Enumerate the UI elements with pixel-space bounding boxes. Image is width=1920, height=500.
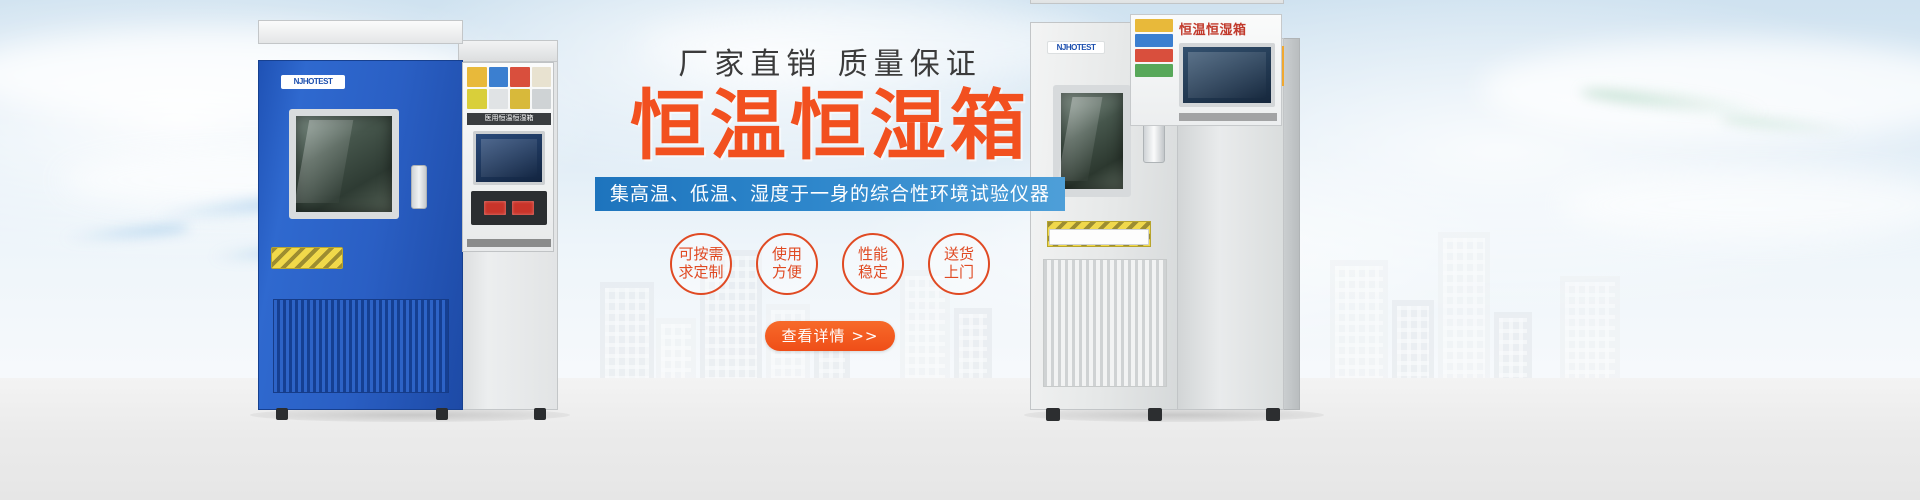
chamber-side-cap: [458, 40, 558, 62]
safety-sticker: [489, 67, 509, 87]
feature-badge-delivery[interactable]: 送货 上门: [928, 233, 990, 295]
chamber-foot: [1046, 408, 1060, 421]
chamber-foot: [534, 408, 546, 420]
badge-line-2: 稳定: [858, 264, 888, 281]
promo-banner: NJHOTEST 医用恒温恒湿箱: [0, 0, 1920, 500]
control-panel-right: 恒温恒湿箱: [1130, 14, 1282, 126]
chamber-top-cap: [1030, 0, 1284, 4]
product-shadow: [250, 408, 570, 422]
subtitle-bar: 集高温、低温、湿度于一身的综合性环境试验仪器: [595, 177, 1065, 211]
feature-badges: 可按需 求定制 使用 方便 性能 稳定 送货 上门: [560, 233, 1100, 295]
controller-screen-right: [1179, 43, 1275, 107]
tagline: 厂家直销 质量保证: [560, 48, 1100, 81]
feature-badge-stable[interactable]: 性能 稳定: [842, 233, 904, 295]
badge-line-1: 可按需: [678, 246, 723, 263]
safety-sticker-group: [1135, 19, 1173, 77]
badge-line-2: 求定制: [678, 264, 723, 281]
headline: 恒温恒湿箱: [560, 87, 1100, 165]
badge-line-2: 方便: [772, 264, 802, 281]
chamber-top-cap: [258, 20, 463, 44]
manufacturer-text-left: [467, 239, 551, 247]
chamber-foot: [1148, 408, 1162, 421]
panel-title-left: 医用恒温恒湿箱: [467, 113, 551, 125]
safety-sticker: [1135, 64, 1173, 77]
safety-sticker: [1135, 49, 1173, 62]
safety-sticker-group: [467, 67, 551, 109]
safety-sticker: [1135, 34, 1173, 47]
product-image-left: NJHOTEST 医用恒温恒湿箱: [258, 40, 558, 410]
controller-screen-left: [473, 131, 545, 185]
controller-readouts-left: [471, 191, 547, 225]
chamber-vent-grille: [273, 299, 449, 393]
chamber-door-handle: [411, 165, 427, 209]
safety-sticker: [532, 89, 552, 109]
chamber-front-body: NJHOTEST: [258, 60, 463, 410]
safety-sticker: [510, 67, 530, 87]
safety-sticker: [1135, 19, 1173, 32]
safety-sticker: [489, 89, 509, 109]
manufacturer-text-right: [1179, 113, 1277, 121]
warning-label: [271, 247, 343, 269]
feature-badge-easy-use[interactable]: 使用 方便: [756, 233, 818, 295]
safety-sticker: [467, 67, 487, 87]
banner-copy: 厂家直销 质量保证 恒温恒湿箱 集高温、低温、湿度于一身的综合性环境试验仪器 可…: [560, 48, 1100, 351]
panel-title-right: 恒温恒湿箱: [1179, 21, 1279, 39]
badge-line-1: 性能: [858, 246, 888, 263]
feature-badge-custom[interactable]: 可按需 求定制: [670, 233, 732, 295]
badge-line-1: 送货: [944, 246, 974, 263]
temperature-readout: [484, 201, 506, 215]
safety-sticker: [467, 89, 487, 109]
humidity-readout: [512, 201, 534, 215]
safety-sticker: [510, 89, 530, 109]
chamber-foot: [1266, 408, 1280, 421]
chamber-foot: [276, 408, 288, 420]
view-details-button[interactable]: 查看详情 >>: [765, 321, 895, 351]
badge-line-1: 使用: [772, 246, 802, 263]
chamber-viewing-window: [289, 109, 399, 219]
chamber-foot: [436, 408, 448, 420]
safety-sticker: [532, 67, 552, 87]
badge-line-2: 上门: [944, 264, 974, 281]
control-panel-left: 医用恒温恒湿箱: [462, 62, 554, 252]
chamber-rear-edge: [1284, 38, 1300, 410]
brand-logo-left: NJHOTEST: [281, 75, 345, 89]
